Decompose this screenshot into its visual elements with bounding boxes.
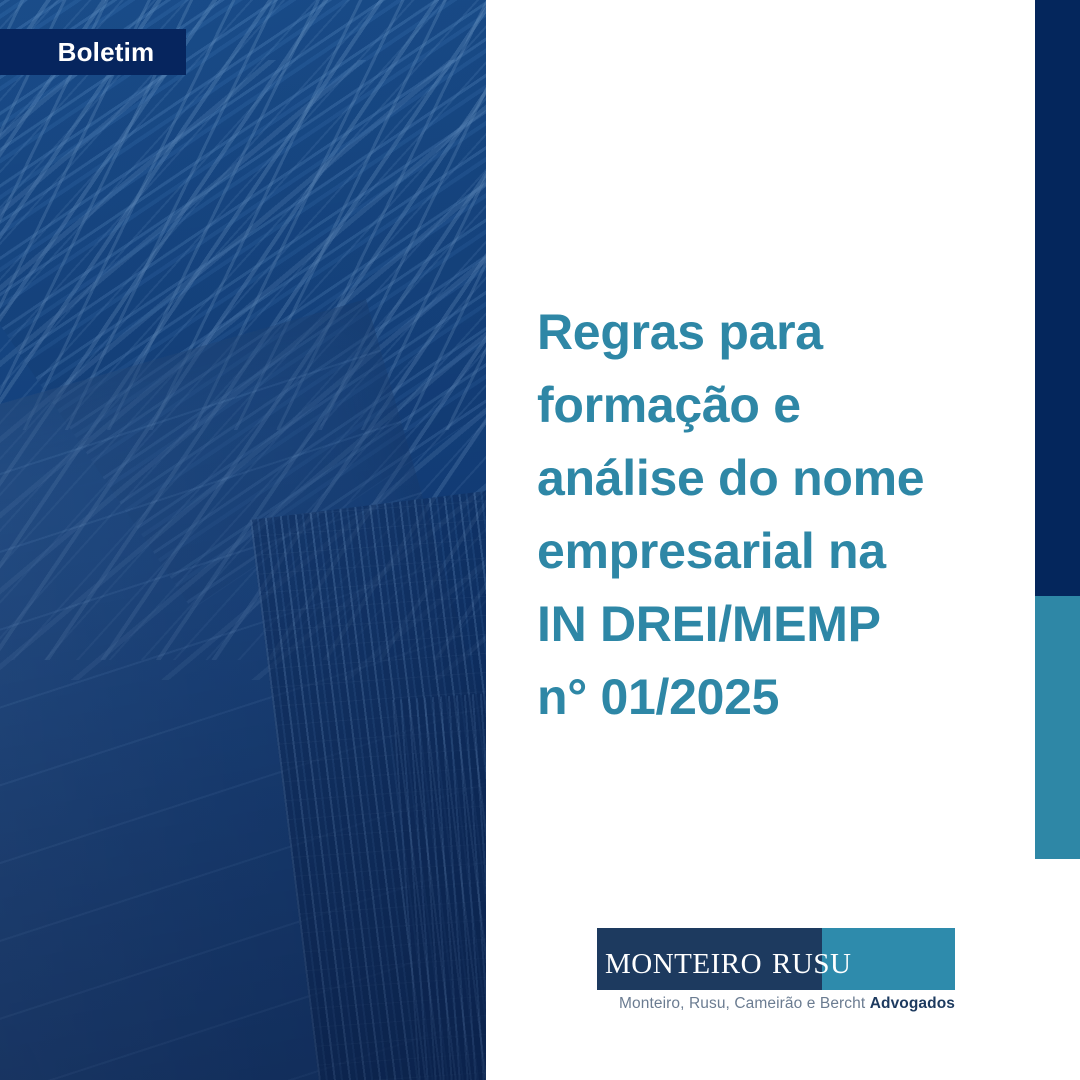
edge-accent-bar-teal [1035,596,1080,859]
logo-tagline-advogados: Advogados [870,995,955,1012]
page-title-line-4: empresarial na [537,515,977,588]
page-title-line-2: formação e [537,369,977,442]
poster-canvas: Edifícios corporativos vistos de baixo c… [0,0,1080,1080]
page-title-line-5: IN DREI/MEMP [537,588,977,661]
building-photo: Edifícios corporativos vistos de baixo c… [0,0,486,1080]
logo-block-teal [822,928,955,990]
logo-block-navy [597,928,822,990]
boletim-badge: Boletim [0,29,186,75]
edge-accent-bar-navy [1035,0,1080,596]
page-title-line-3: análise do nome [537,442,977,515]
logo-tagline-names: Monteiro, Rusu, Cameirão e Bercht [619,995,870,1012]
photo-blue-tint-overlay [0,0,486,1080]
logo-color-blocks: Monteiro Rusu [597,928,955,990]
page-title: Regras para formação e análise do nome e… [537,296,977,734]
logo-tagline: Monteiro, Rusu, Cameirão e Bercht Advoga… [597,995,955,1013]
brand-logo: Monteiro Rusu Monteiro, Rusu, Cameirão e… [597,928,955,1013]
page-title-line-6: n° 01/2025 [537,661,977,734]
boletim-badge-label: Boletim [58,39,155,65]
page-title-line-1: Regras para [537,296,977,369]
